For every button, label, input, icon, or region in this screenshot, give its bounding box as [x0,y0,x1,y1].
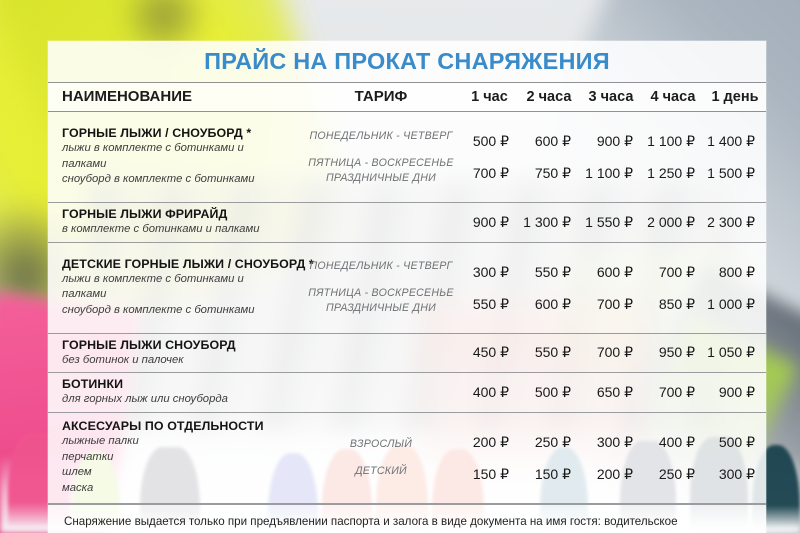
price-value: 600 ₽ [518,287,571,333]
price-value: 500 ₽ [461,112,509,156]
price-value: 250 ₽ [518,413,571,457]
price-value: 300 ₽ [704,457,755,503]
tariff-label: ПОНЕДЕЛЬНИК - ЧЕТВЕРГ [305,129,457,144]
price-cell: 1 050 ₽ [704,333,766,373]
price-cell: 1 300 ₽ [518,203,580,243]
price-value: 600 ₽ [580,243,633,287]
price-value: 700 ₽ [580,344,633,361]
table-row: БОТИНКИдля горных лыж или сноуборда400 ₽… [48,373,766,413]
price-cell: 550 ₽ [518,333,580,373]
price-value: 300 ₽ [580,413,633,457]
price-value: 150 ₽ [518,457,571,503]
price-value: 1 400 ₽ [704,112,755,156]
item-description: сноуборд в комплекте с ботинками [62,172,293,188]
price-cell: 900 ₽1 100 ₽ [580,112,642,203]
price-value: 950 ₽ [642,344,695,361]
item-name-cell: ГОРНЫЕ ЛЫЖИ / СНОУБОРД *лыжи в комплекте… [48,112,301,203]
item-description: лыжи в комплекте с ботинками и [62,141,293,157]
price-cell: 450 ₽ [461,333,518,373]
tariff-cell [301,333,461,373]
item-description: перчатки [62,450,293,466]
price-value: 1 100 ₽ [642,112,695,156]
column-header-tariff: ТАРИФ [301,83,461,112]
column-header-3-hours: 3 часа [580,83,642,112]
price-table-card: ПРАЙС НА ПРОКАТ СНАРЯЖЕНИЯ НАИМЕНОВАНИЕ … [48,41,766,533]
table-row: ГОРНЫЕ ЛЫЖИ ФРИРАЙДв комплекте с ботинка… [48,203,766,243]
price-cell: 300 ₽550 ₽ [461,242,518,333]
price-cell: 200 ₽150 ₽ [461,412,518,503]
price-value: 1 250 ₽ [642,156,695,202]
item-description: без ботинок и палочек [62,353,293,369]
price-value: 700 ₽ [580,287,633,333]
item-title: БОТИНКИ [62,376,293,392]
price-value: 550 ₽ [518,344,571,361]
price-value: 700 ₽ [642,384,695,401]
item-description: палками [62,157,293,173]
tariff-gap [305,274,457,286]
item-description: палками [62,287,293,303]
price-value: 250 ₽ [642,457,695,503]
item-name-cell: АКСЕСУАРЫ ПО ОТДЕЛЬНОСТИлыжные палкиперч… [48,412,301,503]
table-header: НАИМЕНОВАНИЕ ТАРИФ 1 час 2 часа 3 часа 4… [48,83,766,112]
tariff-cell: ПОНЕДЕЛЬНИК - ЧЕТВЕРГПЯТНИЦА - ВОСКРЕСЕН… [301,112,461,203]
price-cell: 600 ₽750 ₽ [518,112,580,203]
price-value: 550 ₽ [461,287,509,333]
price-value: 750 ₽ [518,156,571,202]
price-cell: 2 000 ₽ [642,203,704,243]
tariff-label: ДЕТСКИЙ [305,464,457,479]
price-value: 600 ₽ [518,112,571,156]
item-name-cell: ГОРНЫЕ ЛЫЖИ ФРИРАЙДв комплекте с ботинка… [48,203,301,243]
tariff-cell: ПОНЕДЕЛЬНИК - ЧЕТВЕРГПЯТНИЦА - ВОСКРЕСЕН… [301,242,461,333]
column-header-2-hours: 2 часа [518,83,580,112]
price-cell: 600 ₽700 ₽ [580,242,642,333]
price-cell: 650 ₽ [580,373,642,413]
price-cell: 800 ₽1 000 ₽ [704,242,766,333]
tariff-label: ПЯТНИЦА - ВОСКРЕСЕНЬЕ [305,156,457,171]
item-description: лыжные палки [62,434,293,450]
price-cell: 500 ₽700 ₽ [461,112,518,203]
tariff-label: ПРАЗДНИЧНЫЕ ДНИ [305,171,457,186]
price-cell: 900 ₽ [704,373,766,413]
tariff-cell: ВЗРОСЛЫЙДЕТСКИЙ [301,412,461,503]
tariff-cell [301,373,461,413]
price-value: 550 ₽ [518,243,571,287]
price-value: 900 ₽ [580,112,633,156]
price-value: 400 ₽ [461,384,509,401]
price-list-poster: ПРАЙС НА ПРОКАТ СНАРЯЖЕНИЯ НАИМЕНОВАНИЕ … [0,0,800,533]
price-cell: 400 ₽ [461,373,518,413]
table-row: АКСЕСУАРЫ ПО ОТДЕЛЬНОСТИлыжные палкиперч… [48,412,766,503]
table-row: ГОРНЫЕ ЛЫЖИ СНОУБОРДбез ботинок и палоче… [48,333,766,373]
price-value: 850 ₽ [642,287,695,333]
price-cell: 250 ₽150 ₽ [518,412,580,503]
price-cell: 700 ₽ [642,373,704,413]
price-value: 1 500 ₽ [704,156,755,202]
item-name-cell: БОТИНКИдля горных лыж или сноуборда [48,373,301,413]
price-cell: 1 100 ₽1 250 ₽ [642,112,704,203]
table-row: ДЕТСКИЕ ГОРНЫЕ ЛЫЖИ / СНОУБОРД *лыжи в к… [48,242,766,333]
item-title: ДЕТСКИЕ ГОРНЫЕ ЛЫЖИ / СНОУБОРД * [62,256,293,272]
item-name-cell: ДЕТСКИЕ ГОРНЫЕ ЛЫЖИ / СНОУБОРД *лыжи в к… [48,242,301,333]
price-value: 1 050 ₽ [704,344,755,361]
price-value: 900 ₽ [704,384,755,401]
item-description: маска [62,481,293,497]
price-cell: 700 ₽ [580,333,642,373]
page-title: ПРАЙС НА ПРОКАТ СНАРЯЖЕНИЯ [204,48,610,75]
tariff-gap [305,144,457,156]
tariff-gap [305,452,457,464]
price-value: 300 ₽ [461,243,509,287]
item-description: в комплекте с ботинками и палками [62,222,293,238]
title-bar: ПРАЙС НА ПРОКАТ СНАРЯЖЕНИЯ [48,41,766,82]
item-title: ГОРНЫЕ ЛЫЖИ СНОУБОРД [62,337,293,353]
price-cell: 500 ₽ [518,373,580,413]
price-value: 500 ₽ [518,384,571,401]
tariff-label: ПРАЗДНИЧНЫЕ ДНИ [305,301,457,316]
table-row: ГОРНЫЕ ЛЫЖИ / СНОУБОРД *лыжи в комплекте… [48,112,766,203]
item-name-cell: ГОРНЫЕ ЛЫЖИ СНОУБОРДбез ботинок и палоче… [48,333,301,373]
tariff-label: ПЯТНИЦА - ВОСКРЕСЕНЬЕ [305,286,457,301]
price-value: 800 ₽ [704,243,755,287]
tariff-label: ПОНЕДЕЛЬНИК - ЧЕТВЕРГ [305,259,457,274]
price-value: 150 ₽ [461,457,509,503]
item-title: АКСЕСУАРЫ ПО ОТДЕЛЬНОСТИ [62,418,293,434]
tariff-label: ВЗРОСЛЫЙ [305,437,457,452]
price-cell: 950 ₽ [642,333,704,373]
price-value: 2 300 ₽ [704,214,755,231]
price-value: 500 ₽ [704,413,755,457]
item-description: шлем [62,465,293,481]
price-value: 700 ₽ [642,243,695,287]
price-cell: 900 ₽ [461,203,518,243]
price-value: 2 000 ₽ [642,214,695,231]
price-value: 1 300 ₽ [518,214,571,231]
header-row: НАИМЕНОВАНИЕ ТАРИФ 1 час 2 часа 3 часа 4… [48,83,766,112]
footnote: Снаряжение выдается только при предъявле… [48,504,766,533]
price-value: 1 100 ₽ [580,156,633,202]
price-table: НАИМЕНОВАНИЕ ТАРИФ 1 час 2 часа 3 часа 4… [48,82,766,504]
price-value: 400 ₽ [642,413,695,457]
price-value: 1 000 ₽ [704,287,755,333]
price-cell: 400 ₽250 ₽ [642,412,704,503]
price-cell: 2 300 ₽ [704,203,766,243]
item-description: лыжи в комплекте с ботинками и [62,272,293,288]
price-cell: 1 400 ₽1 500 ₽ [704,112,766,203]
price-value: 900 ₽ [461,214,509,231]
column-header-4-hours: 4 часа [642,83,704,112]
column-header-1-hour: 1 час [461,83,518,112]
item-description: сноуборд в комплекте с ботинками [62,303,293,319]
price-value: 450 ₽ [461,344,509,361]
table-body: ГОРНЫЕ ЛЫЖИ / СНОУБОРД *лыжи в комплекте… [48,112,766,504]
column-header-name: НАИМЕНОВАНИЕ [48,83,301,112]
price-cell: 1 550 ₽ [580,203,642,243]
price-cell: 300 ₽200 ₽ [580,412,642,503]
price-cell: 700 ₽850 ₽ [642,242,704,333]
price-value: 1 550 ₽ [580,214,633,231]
price-cell: 500 ₽300 ₽ [704,412,766,503]
item-title: ГОРНЫЕ ЛЫЖИ / СНОУБОРД * [62,125,293,141]
tariff-cell [301,203,461,243]
price-value: 200 ₽ [580,457,633,503]
price-value: 200 ₽ [461,413,509,457]
item-title: ГОРНЫЕ ЛЫЖИ ФРИРАЙД [62,206,293,222]
price-value: 700 ₽ [461,156,509,202]
column-header-1-day: 1 день [704,83,766,112]
price-cell: 550 ₽600 ₽ [518,242,580,333]
item-description: для горных лыж или сноуборда [62,392,293,408]
price-value: 650 ₽ [580,384,633,401]
